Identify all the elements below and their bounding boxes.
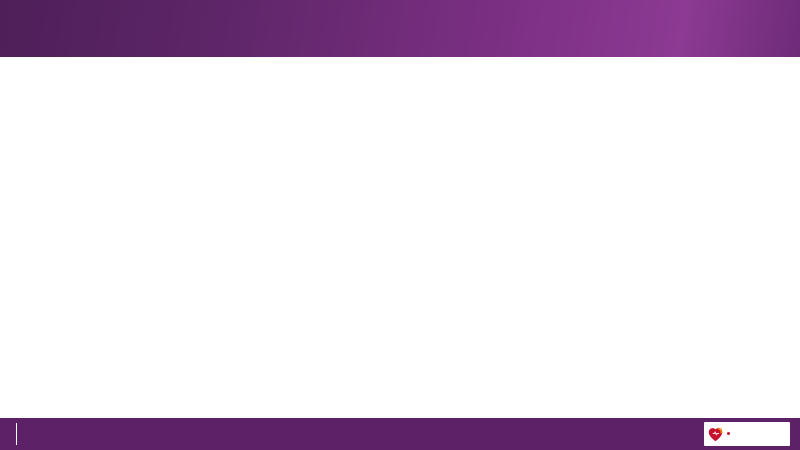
- sankey-svg-teer: [60, 118, 400, 360]
- pcr-london-valves-logo: [14, 421, 20, 447]
- slide-header: [0, 0, 800, 57]
- heart-icon: [707, 426, 724, 443]
- eapci-logo: [704, 422, 790, 446]
- sankey-panel-annuloplasty: [400, 118, 790, 350]
- slide-footer: [0, 418, 800, 450]
- logo-divider: [16, 423, 17, 445]
- sankey-panel-teer: [60, 118, 400, 350]
- slide: [0, 0, 800, 450]
- eapci-subtitle: [727, 432, 731, 437]
- esc-dot-icon: [727, 432, 730, 435]
- sankey-svg-annuloplasty: [400, 118, 790, 360]
